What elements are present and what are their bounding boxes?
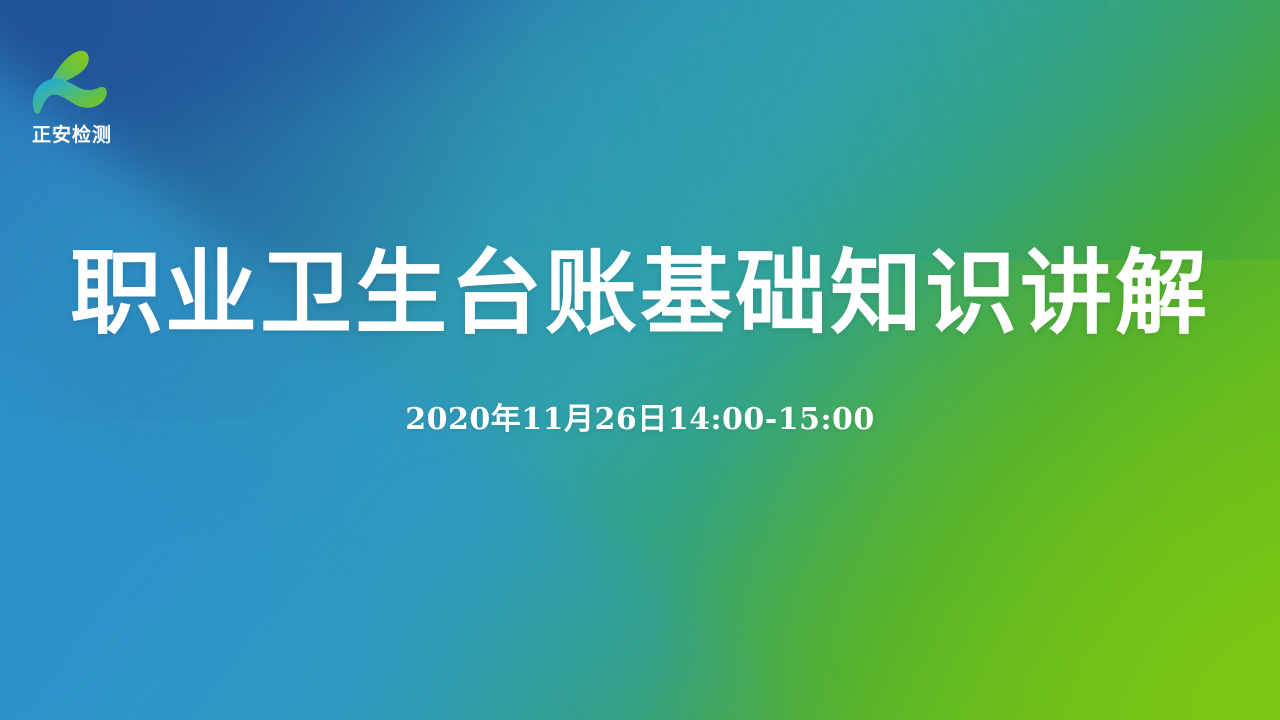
page-title: 职业卫生台账基础知识讲解 (0, 245, 1280, 342)
title-block: 职业卫生台账基础知识讲解 2020年11月26日14:00-15:00 (0, 245, 1280, 438)
slide-subtitle-datetime: 2020年11月26日14:00-15:00 (0, 342, 1280, 438)
logo-mark-icon (26, 48, 112, 116)
presentation-title-slide: 正安检测 职业卫生台账基础知识讲解 2020年11月26日14:00-15:00 (0, 0, 1280, 720)
company-logo: 正安检测 (12, 48, 132, 152)
logo-company-name: 正安检测 (12, 120, 132, 147)
